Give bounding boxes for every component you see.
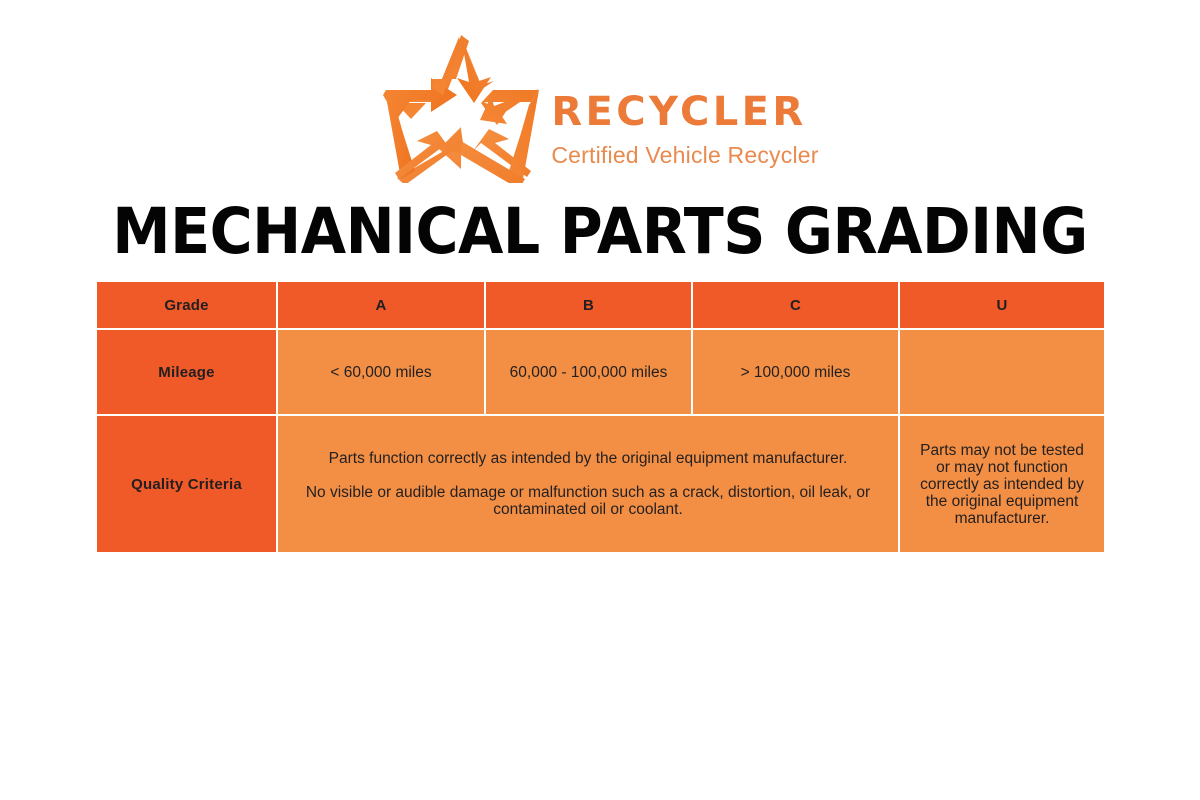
table-header-grade-c: C [692, 281, 899, 329]
recycling-star-icon [381, 33, 543, 183]
quality-criteria-paragraph-1: Parts function correctly as intended by … [296, 450, 880, 467]
table-header-grade-a: A [277, 281, 485, 329]
table-header-row: Grade A B C U [96, 281, 1105, 329]
grading-table: Grade A B C U Mileage < 60,000 miles 60,… [95, 280, 1106, 554]
brand-logo-text: RECYCLER Certified Vehicle Recycler [551, 50, 818, 167]
table-header-grade: Grade [96, 281, 277, 329]
brand-wordmark: RECYCLER [551, 92, 818, 132]
page-title: MECHANICAL PARTS GRADING [42, 196, 1158, 268]
table-header-grade-u: U [899, 281, 1105, 329]
mileage-grade-a: < 60,000 miles [277, 329, 485, 415]
brand-tagline: Certified Vehicle Recycler [551, 144, 818, 167]
mileage-grade-c: > 100,000 miles [692, 329, 899, 415]
row-label-mileage: Mileage [96, 329, 277, 415]
row-label-quality-criteria: Quality Criteria [96, 415, 277, 553]
table-row-mileage: Mileage < 60,000 miles 60,000 - 100,000 … [96, 329, 1105, 415]
quality-criteria-paragraph-2: No visible or audible damage or malfunct… [296, 484, 880, 518]
table-row-quality-criteria: Quality Criteria Parts function correctl… [96, 415, 1105, 553]
brand-logo: RECYCLER Certified Vehicle Recycler [0, 28, 1200, 188]
quality-criteria-grade-u: Parts may not be tested or may not funct… [899, 415, 1105, 553]
mileage-grade-u [899, 329, 1105, 415]
brand-logo-inner: RECYCLER Certified Vehicle Recycler [381, 33, 818, 183]
quality-criteria-abc: Parts function correctly as intended by … [277, 415, 899, 553]
mileage-grade-b: 60,000 - 100,000 miles [485, 329, 692, 415]
table-header-grade-b: B [485, 281, 692, 329]
